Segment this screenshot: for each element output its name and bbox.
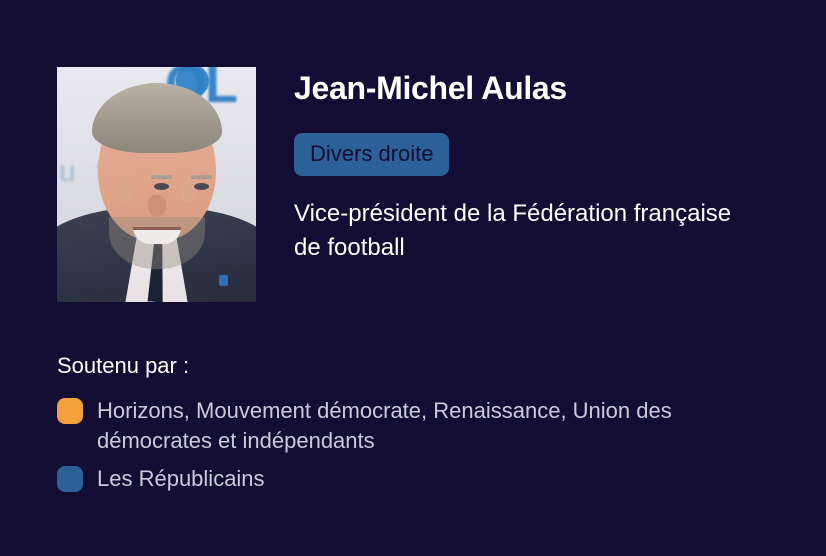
- candidate-card: OL u fo al Jean-Michel Aulas Div: [0, 0, 826, 556]
- eyebrow-left: [151, 175, 172, 179]
- legend-label: Les Républicains: [97, 464, 265, 494]
- ear-left: [118, 177, 133, 203]
- ear-right: [181, 177, 196, 203]
- candidate-role: Vice-président de la Fédération français…: [294, 197, 734, 265]
- list-item: Les Républicains: [57, 464, 787, 494]
- candidate-name: Jean-Michel Aulas: [294, 69, 734, 107]
- list-item: Horizons, Mouvement démocrate, Renaissan…: [57, 396, 787, 456]
- party-badge: Divers droite: [294, 133, 449, 176]
- legend-color-swatch: [57, 398, 83, 424]
- lapel-pin-icon: [219, 275, 228, 286]
- eye-right: [194, 183, 209, 190]
- profile-row: OL u fo al Jean-Michel Aulas Div: [57, 67, 734, 302]
- support-title: Soutenu par :: [57, 352, 787, 380]
- support-section: Soutenu par : Horizons, Mouvement démocr…: [57, 352, 787, 502]
- eyebrow-right: [191, 175, 212, 179]
- eye-left: [154, 183, 169, 190]
- legend-color-swatch: [57, 466, 83, 492]
- nose-shape: [148, 195, 166, 217]
- identity-block: Jean-Michel Aulas Divers droite Vice-pré…: [294, 67, 734, 265]
- candidate-photo: OL u fo al: [57, 67, 256, 302]
- support-legend-list: Horizons, Mouvement démocrate, Renaissan…: [57, 396, 787, 494]
- legend-label: Horizons, Mouvement démocrate, Renaissan…: [97, 396, 787, 456]
